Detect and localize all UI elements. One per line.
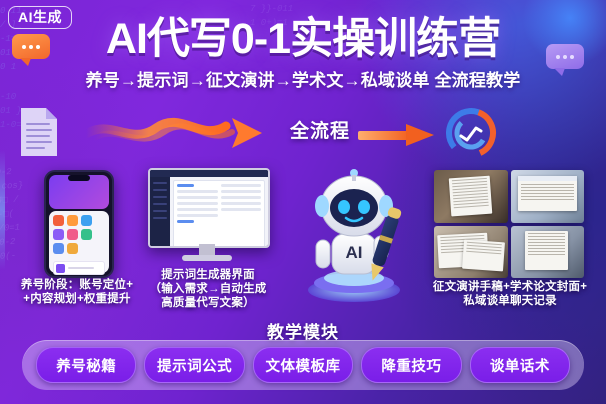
module-pill-3[interactable]: 文体模板库 (253, 347, 353, 383)
left-light-bar (0, 150, 5, 270)
phone-mockup (44, 170, 114, 278)
module-pill-1[interactable]: 养号秘籍 (36, 347, 136, 383)
phone-icon-grid (49, 211, 109, 258)
collage-caption: 征文演讲手稿+学术论文封面+ 私域谈单聊天记录 (424, 280, 596, 308)
monitor-form-right (221, 184, 262, 247)
svg-text:AI: AI (346, 243, 363, 262)
orange-arrow-icon (358, 122, 436, 148)
monitor-form-left (177, 184, 218, 247)
page-title: AI代写0-1实操训练营 (0, 18, 606, 61)
monitor-workspace (170, 177, 268, 246)
monitor-caption: 提示词生成器界面 （输入需求→自动生成 高质量代写文案） (140, 268, 276, 310)
flow-label: 全流程 (290, 116, 350, 143)
photo-desk-papers (434, 226, 508, 279)
page-subtitle: 养号→提示词→征文演讲→学术文→私域谈单 全流程教学 (0, 66, 606, 91)
phone-notch (68, 175, 90, 181)
photo-collage (434, 170, 584, 278)
photo-manuscript (434, 170, 508, 223)
module-pill-2[interactable]: 提示词公式 (144, 347, 244, 383)
module-pill-5[interactable]: 谈单话术 (470, 347, 570, 383)
monitor-titlebar (150, 170, 268, 177)
analytics-ring-icon (442, 104, 500, 162)
photo-chat-window (511, 170, 585, 223)
monitor-form-card (173, 180, 265, 248)
monitor-neck (199, 244, 215, 255)
phone-list-item (53, 261, 105, 275)
phone-caption: 养号阶段：账号定位+ +内容规划+权重提升 (2, 278, 152, 306)
monitor-screen (148, 168, 270, 248)
robot-mascot-icon: AI (296, 162, 412, 304)
document-icon (18, 106, 60, 158)
module-pill-bar: 养号秘籍 提示词公式 文体模板库 降重技巧 谈单话术 (22, 340, 584, 390)
monitor-base (182, 255, 232, 261)
poster-canvas: R0-2 {-cos} b4□ / )-□( D/0=1 R0-2 /0(- 0… (0, 0, 606, 404)
photo-clipboard (511, 226, 585, 279)
monitor-mockup (148, 168, 266, 264)
module-pill-4[interactable]: 降重技巧 (361, 347, 461, 383)
phone-content (49, 211, 109, 273)
monitor-sidebar (150, 177, 170, 246)
orange-wave-arrow-icon (86, 112, 276, 152)
